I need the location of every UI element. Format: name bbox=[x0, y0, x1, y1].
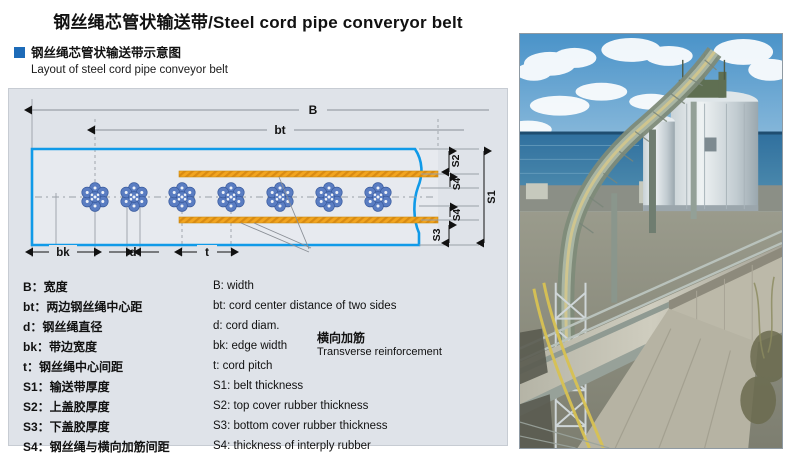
legend-item: bt: cord center distance of two sides bbox=[213, 297, 493, 317]
legend-item: S4：钢丝绳与横向加筋间距 bbox=[23, 437, 213, 457]
legend-column-cn: B：宽度 bt：两边钢丝绳中心距 d：钢丝绳直径 bk：带边宽度 t：钢丝绳中心… bbox=[23, 277, 213, 457]
legend-item: S3：下盖胶厚度 bbox=[23, 417, 213, 437]
dimension-S2: S2 bbox=[449, 151, 462, 172]
page-root: 钢丝绳芯管状输送带/Steel cord pipe converyor belt… bbox=[0, 0, 790, 458]
pipe-conveyor-installation-photo bbox=[519, 33, 783, 449]
dimension-S4-bottom: S4 bbox=[450, 207, 463, 221]
dimension-S1: S1 bbox=[484, 151, 498, 243]
diagram-inner: B bt bbox=[9, 89, 507, 445]
section-heading-cn: 钢丝绳芯管状输送带示意图 bbox=[31, 42, 181, 61]
section-heading: 钢丝绳芯管状输送带示意图 Layout of steel cord pipe c… bbox=[14, 42, 494, 76]
dimension-label-S4-bottom: S4 bbox=[452, 208, 463, 221]
dimension-bt: bt bbox=[95, 123, 464, 137]
dimension-B: B bbox=[32, 103, 489, 117]
legend-item: S1: belt thickness bbox=[213, 377, 493, 397]
dimension-label-S1: S1 bbox=[486, 190, 498, 203]
legend-item: S4: thickness of interply rubber bbox=[213, 437, 493, 457]
legend-item: d: cord diam. bbox=[213, 317, 493, 337]
diagram-panel: B bt bbox=[8, 88, 508, 446]
square-bullet-icon bbox=[14, 47, 25, 58]
legend-item: S1：输送带厚度 bbox=[23, 377, 213, 397]
legend-item: S2：上盖胶厚度 bbox=[23, 397, 213, 417]
legend-item: bk：带边宽度 bbox=[23, 337, 213, 357]
legend-item: t: cord pitch bbox=[213, 357, 493, 377]
dimension-label-d: d bbox=[129, 247, 136, 259]
legend-column-en: B: width bt: cord center distance of two… bbox=[213, 277, 493, 457]
dimension-label-t: t bbox=[205, 247, 209, 259]
dimension-label-S4-top: S4 bbox=[452, 177, 463, 190]
page-title: 钢丝绳芯管状输送带/Steel cord pipe converyor belt bbox=[0, 8, 516, 33]
legend: B：宽度 bt：两边钢丝绳中心距 d：钢丝绳直径 bk：带边宽度 t：钢丝绳中心… bbox=[23, 277, 501, 457]
legend-item: S2: top cover rubber thickness bbox=[213, 397, 493, 417]
dimension-label-bt: bt bbox=[274, 123, 285, 137]
legend-item: B：宽度 bbox=[23, 277, 213, 297]
legend-item: bk: edge width bbox=[213, 337, 493, 357]
section-heading-en: Layout of steel cord pipe conveyor belt bbox=[31, 64, 494, 76]
dimension-label-S3: S3 bbox=[431, 228, 443, 241]
legend-item: S3: bottom cover rubber thickness bbox=[213, 417, 493, 437]
dimension-d: d bbox=[109, 247, 159, 259]
dimension-bk: bk bbox=[33, 245, 94, 259]
dimension-t: t bbox=[182, 245, 231, 259]
dimension-label-S2: S2 bbox=[450, 154, 462, 167]
legend-item: B: width bbox=[213, 277, 493, 297]
dimension-S4-top: S4 bbox=[450, 177, 463, 190]
dimension-label-B: B bbox=[309, 103, 318, 117]
photo-illustration bbox=[520, 34, 782, 448]
legend-item: t：钢丝绳中心间距 bbox=[23, 357, 213, 377]
dimension-label-bk: bk bbox=[56, 247, 70, 259]
legend-item: bt：两边钢丝绳中心距 bbox=[23, 297, 213, 317]
legend-item: d：钢丝绳直径 bbox=[23, 317, 213, 337]
